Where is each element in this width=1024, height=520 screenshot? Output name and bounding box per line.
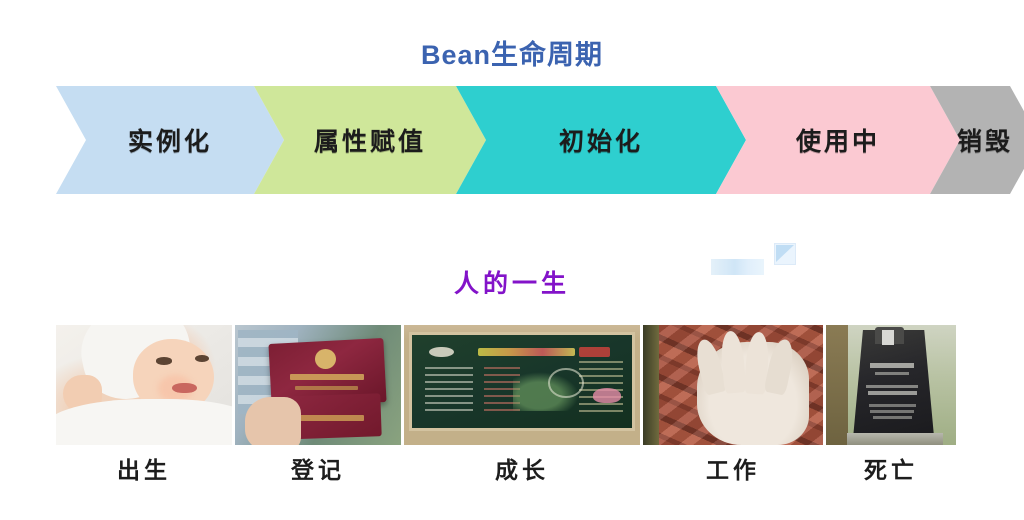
bean-lifecycle-chevron-band: 实例化 属性赋值 初始化 使用中 销毁 <box>56 86 984 194</box>
gravestone-epitaph-line-2 <box>868 391 917 395</box>
gravestone-epitaph-line-5 <box>873 416 912 419</box>
brick-photo-left-edge <box>643 325 659 445</box>
booklet-second-text-shape <box>295 415 365 421</box>
gravestone-photo-plate <box>882 330 894 346</box>
caption-birth: 出生 <box>56 448 232 488</box>
chalk-text-column-1 <box>425 363 474 411</box>
gravestone-left-backdrop <box>826 325 848 445</box>
chalk-headline-text <box>478 348 575 355</box>
holding-hand-shape <box>245 397 301 445</box>
faint-square-artifact <box>774 243 796 265</box>
chevron-label: 使用中 <box>796 122 880 158</box>
chevron-stage-in-use[interactable]: 使用中 <box>716 86 960 194</box>
chevron-stage-instantiation[interactable]: 实例化 <box>56 86 284 194</box>
chalk-moon-drawing <box>429 347 453 357</box>
chevron-label: 属性赋值 <box>314 122 426 158</box>
gravestone-date-line <box>875 372 909 375</box>
chalkboard-frame <box>409 332 636 430</box>
gravestone-name-line <box>870 363 914 368</box>
caption-work: 工作 <box>643 448 823 488</box>
dusty-hand-over-bricks-photo <box>643 325 823 445</box>
faint-rectangle-artifact <box>711 259 764 275</box>
baby-mouth-shape <box>172 383 197 394</box>
chevron-label: 实例化 <box>128 122 212 158</box>
human-life-photo-strip <box>56 325 966 445</box>
baby-towel-shape <box>56 399 232 445</box>
caption-death: 死亡 <box>826 448 956 488</box>
baby-wrapped-in-towel-photo <box>56 325 232 445</box>
chalk-text-column-3 <box>579 361 623 412</box>
gravestone-base <box>847 433 943 445</box>
caption-registration: 登记 <box>235 448 401 488</box>
household-registration-booklet-photo <box>235 325 401 445</box>
chalk-circle-drawing <box>548 368 583 398</box>
booklet-subtitle-text-shape <box>295 386 358 390</box>
baby-left-eye-shape <box>156 357 172 364</box>
chalk-lotus-drawing <box>593 388 622 403</box>
booklet-title-text-shape <box>290 374 365 380</box>
chevron-label: 初始化 <box>559 122 643 158</box>
chevron-stage-populate-properties[interactable]: 属性赋值 <box>254 86 486 194</box>
gravestone-epitaph-line-1 <box>866 385 918 388</box>
human-life-caption-row: 出生 登记 成长 工作 死亡 <box>56 448 966 488</box>
page-title: Bean生命周期 <box>0 33 1024 72</box>
caption-growth: 成长 <box>404 448 640 488</box>
gravestone-epitaph-line-4 <box>870 410 914 413</box>
black-granite-gravestone-photo <box>826 325 956 445</box>
slide-canvas: Bean生命周期 实例化 属性赋值 初始化 使用中 销毁 人的一生 <box>0 0 1024 520</box>
chalk-red-title <box>579 347 610 357</box>
gravestone-epitaph-line-3 <box>869 404 916 407</box>
school-chalkboard-photo <box>404 325 640 445</box>
chevron-stage-initialization[interactable]: 初始化 <box>456 86 746 194</box>
section-title-human-life: 人的一生 <box>0 264 1024 300</box>
gravestone-slab <box>853 330 934 436</box>
chevron-label: 销毁 <box>957 122 1013 158</box>
